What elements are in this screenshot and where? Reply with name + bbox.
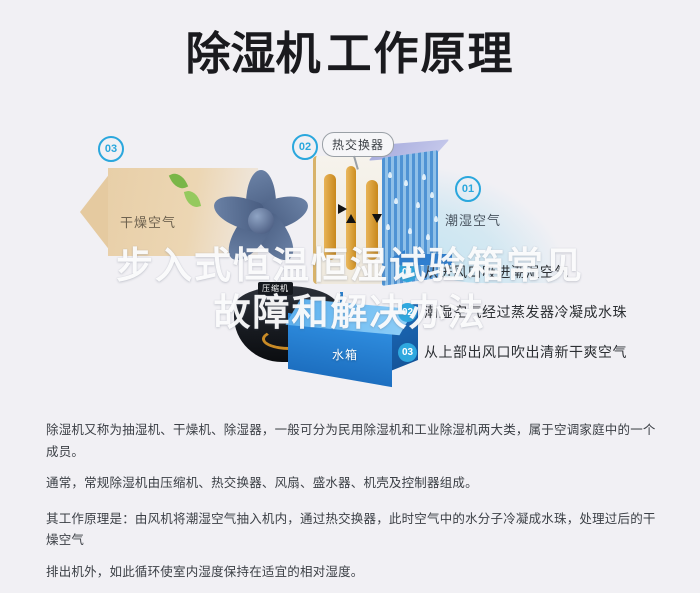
title-part-a: 除湿机 [185,28,320,79]
water-tank-label: 水箱 [332,346,358,363]
step-badge-03: 03 [98,136,124,162]
list-item: 01 从进风口吸进潮湿空气 [398,252,648,292]
step-badge-01: 01 [455,176,481,202]
coil-pipe [324,174,336,260]
fan-hub [248,208,274,234]
flow-arrow-down-icon [372,214,382,223]
step-list: 01 从进风口吸进潮湿空气 02 潮湿空气经过蒸发器冷凝成水珠 03 从上部出风… [398,252,648,372]
step-label: 潮湿空气经过蒸发器冷凝成水珠 [424,302,627,322]
list-item: 03 从上部出风口吹出清新干爽空气 [398,332,648,372]
paragraph-4: 排出机外，如此循环使室内湿度保持在适宜的相对湿度。 [46,562,662,584]
step-number-badge: 03 [398,343,417,362]
flow-arrow-right-icon [338,204,347,214]
step-number-badge: 02 [398,303,417,322]
compressor-label: 压缩机 [258,282,293,295]
flow-arrow-up-icon [346,214,356,223]
step-number-badge: 01 [398,263,417,282]
title-part-b: 工作原理 [327,28,515,79]
paragraph-1: 除湿机又称为抽湿机、干燥机、除湿器，一般可分为民用除湿机和工业除湿机两大类，属于… [46,420,662,463]
step-label: 从进风口吸进潮湿空气 [424,262,569,282]
paragraph-3: 其工作原理是：由风机将潮湿空气抽入机内，通过热交换器，此时空气中的水分子冷凝成水… [46,509,662,552]
humid-air-label: 潮湿空气 [445,210,501,229]
refrigerant-coil [313,156,393,284]
infographic-page: 除湿机工作原理 干燥空气 [0,0,700,566]
step-label: 从上部出风口吹出清新干爽空气 [424,342,627,362]
fan-icon [208,166,312,270]
list-item: 02 潮湿空气经过蒸发器冷凝成水珠 [398,292,648,332]
page-title: 除湿机工作原理 [0,26,700,82]
paragraph-2: 通常，常规除湿机由压缩机、热交换器、风扇、盛水器、机壳及控制器组成。 [46,473,662,495]
body-copy: 除湿机又称为抽湿机、干燥机、除湿器，一般可分为民用除湿机和工业除湿机两大类，属于… [46,420,662,593]
heat-exchanger-callout: 热交换器 [322,132,394,157]
dry-air-label: 干燥空气 [120,212,176,231]
step-badge-02: 02 [292,134,318,160]
